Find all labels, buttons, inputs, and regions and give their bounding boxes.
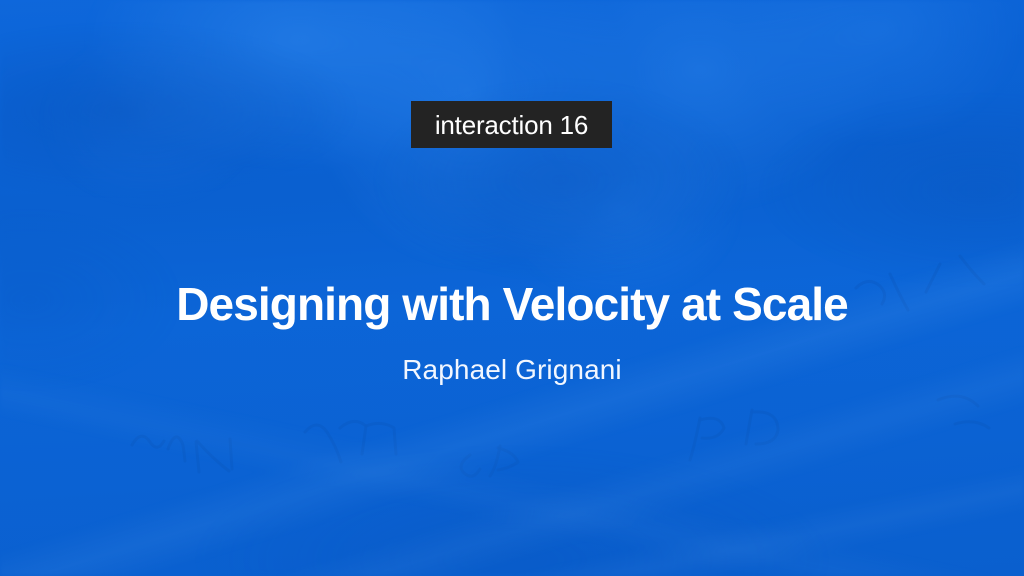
speaker-name: Raphael Grignani [0,356,1024,384]
slide-content: interaction 16 Designing with Velocity a… [0,0,1024,576]
slide-title: Designing with Velocity at Scale [0,281,1024,327]
presentation-title-slide: interaction 16 Designing with Velocity a… [0,0,1024,576]
conference-badge-label: interaction 16 [435,112,588,138]
conference-badge: interaction 16 [411,101,612,148]
